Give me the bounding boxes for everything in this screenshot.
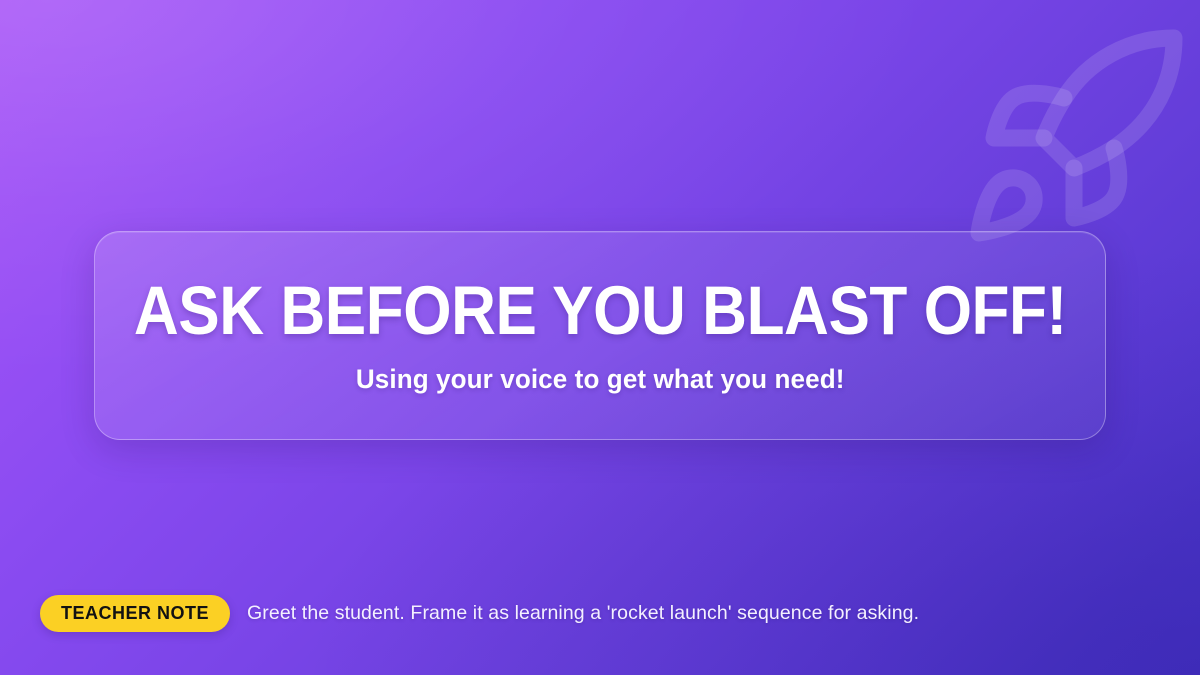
hero-card: ASK BEFORE YOU BLAST OFF! Using your voi… — [94, 231, 1106, 440]
page-title: ASK BEFORE YOU BLAST OFF! — [134, 276, 1067, 345]
page-subtitle: Using your voice to get what you need! — [356, 345, 845, 395]
teacher-note-text: Greet the student. Frame it as learning … — [247, 602, 919, 625]
teacher-note: TEACHER NOTE Greet the student. Frame it… — [40, 595, 919, 632]
teacher-note-badge: TEACHER NOTE — [40, 595, 230, 632]
rocket-launch-icon — [954, 18, 1194, 258]
slide-canvas: ASK BEFORE YOU BLAST OFF! Using your voi… — [0, 0, 1200, 675]
